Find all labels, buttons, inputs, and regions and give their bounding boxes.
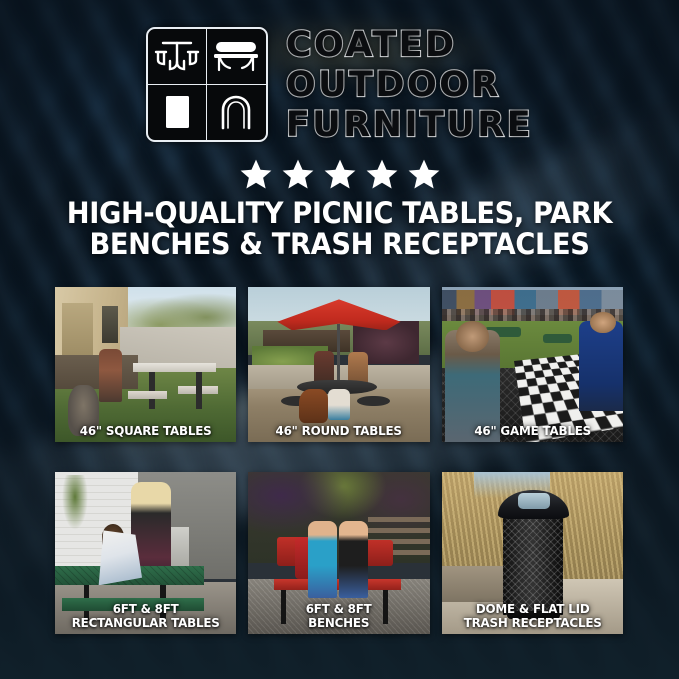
caption-line: 46" ROUND TABLES [253,424,425,438]
headline-line-1: HIGH-QUALITY PICNIC TABLES, PARK [67,196,612,230]
star-icon [323,158,357,191]
product-photo-round-tables [248,287,429,442]
caption-line: 6FT & 8FT [60,602,232,616]
product-photo-game-tables [442,287,623,442]
brand-wordmark: COATED OUTDOOR FURNITURE [286,27,533,143]
product-tile-trash-receptacles[interactable]: DOME & FLAT LID TRASH RECEPTACLES [442,472,623,634]
promo-banner: COATED OUTDOOR FURNITURE HIGH-QUALITY PI… [0,0,679,679]
product-grid: 46" SQUARE TABLES [55,287,623,634]
product-caption-game-tables: 46" GAME TABLES [446,424,618,438]
product-tile-benches[interactable]: 6FT & 8FT BENCHES [248,472,429,634]
star-icon [407,158,441,191]
product-photo-square-tables [55,287,236,442]
trash-receptacle-icon [148,85,207,141]
caption-line: BENCHES [253,616,425,630]
product-caption-square-tables: 46" SQUARE TABLES [60,424,232,438]
bench-icon [207,29,266,85]
bike-rack-arch-icon [207,85,266,141]
product-caption-trash-receptacles: DOME & FLAT LID TRASH RECEPTACLES [446,602,618,629]
star-rating [0,158,679,191]
product-tile-round-tables[interactable]: 46" ROUND TABLES [248,287,429,442]
logo-mark-grid [146,27,268,142]
headline-line-2: BENCHES & TRASH RECEPTACLES [20,229,658,260]
product-tile-square-tables[interactable]: 46" SQUARE TABLES [55,287,236,442]
picnic-table-icon [148,29,207,85]
star-icon [239,158,273,191]
caption-line: RECTANGULAR TABLES [60,616,232,630]
caption-line: 6FT & 8FT [253,602,425,616]
product-tile-game-tables[interactable]: 46" GAME TABLES [442,287,623,442]
brand-word-outdoor: OUTDOOR [286,68,533,103]
star-icon [365,158,399,191]
star-icon [281,158,315,191]
brand-word-coated: COATED [286,28,533,63]
caption-line: TRASH RECEPTACLES [446,616,618,630]
headline: HIGH-QUALITY PICNIC TABLES, PARK BENCHES… [20,198,658,260]
product-caption-rectangular-tables: 6FT & 8FT RECTANGULAR TABLES [60,602,232,629]
brand-word-furniture: FURNITURE [286,108,533,143]
brand-logo[interactable]: COATED OUTDOOR FURNITURE [0,27,679,143]
product-tile-rectangular-tables[interactable]: 6FT & 8FT RECTANGULAR TABLES [55,472,236,634]
product-caption-round-tables: 46" ROUND TABLES [253,424,425,438]
product-caption-benches: 6FT & 8FT BENCHES [253,602,425,629]
caption-line: DOME & FLAT LID [446,602,618,616]
caption-line: 46" GAME TABLES [446,424,618,438]
caption-line: 46" SQUARE TABLES [60,424,232,438]
